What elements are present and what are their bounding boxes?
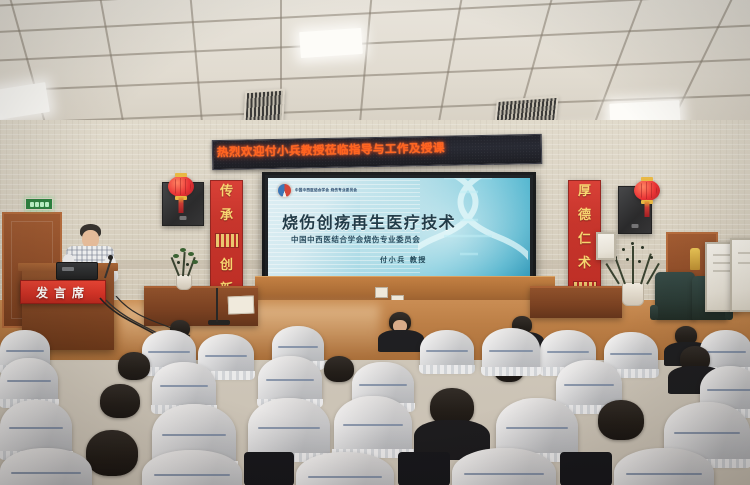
exit-sign-glyph bbox=[35, 202, 39, 207]
chair-seam bbox=[706, 351, 746, 353]
slide-org-logo-text: 中国中西医结合学会 烧伤专业委员会 bbox=[295, 188, 357, 193]
slide-org-logo: 中国中西医结合学会 烧伤专业委员会 bbox=[277, 183, 357, 198]
slide-subtitle: 中国中西医结合学会烧伤专业委员会 bbox=[291, 235, 420, 244]
audience-head bbox=[598, 400, 644, 440]
emergency-exit-sign bbox=[25, 198, 53, 210]
audience-chair[interactable] bbox=[482, 328, 540, 372]
led-banner: 热烈欢迎付小兵教授莅临指导与工作及授课 bbox=[212, 134, 543, 170]
red-lantern-left bbox=[168, 176, 194, 197]
couplet-char: 厚 bbox=[578, 185, 591, 198]
chair-seam bbox=[148, 351, 189, 353]
chair-seam bbox=[359, 384, 406, 386]
chair-seam bbox=[258, 427, 320, 429]
microphone-stand-pole bbox=[216, 288, 218, 322]
ceiling-panel-light bbox=[299, 28, 363, 58]
audience-chair[interactable] bbox=[420, 330, 474, 370]
exit-sign-glyph bbox=[30, 202, 34, 207]
audience-head bbox=[100, 384, 140, 418]
chair-seam bbox=[489, 350, 533, 352]
podium-microphone-head bbox=[108, 255, 113, 260]
chair-shading bbox=[0, 448, 92, 485]
audience-shoulders bbox=[378, 330, 424, 352]
chair-seam bbox=[160, 385, 209, 387]
chair-seam bbox=[547, 351, 590, 353]
chair-seam bbox=[154, 474, 230, 476]
chair-seam bbox=[6, 350, 44, 352]
poster-text-line bbox=[713, 254, 731, 256]
microphone-stand-base bbox=[208, 320, 230, 325]
couplet-ornament bbox=[215, 233, 239, 248]
audience-head bbox=[118, 352, 150, 380]
chair-shadow-gap bbox=[560, 452, 612, 485]
audience-chair[interactable] bbox=[334, 396, 412, 454]
armchair-armrest bbox=[650, 305, 658, 320]
chair-seam bbox=[506, 427, 568, 429]
red-lantern-right bbox=[634, 180, 660, 201]
couplet-char: 仁 bbox=[578, 233, 591, 246]
chair-seam bbox=[308, 476, 383, 478]
podium-laptop[interactable] bbox=[56, 262, 98, 280]
chair-cover-frill bbox=[419, 365, 475, 374]
chair-shadow-gap bbox=[398, 452, 450, 485]
lantern-ribs bbox=[637, 182, 657, 199]
chair-seam bbox=[343, 424, 402, 426]
wall-notice-board bbox=[596, 232, 616, 260]
presentation-slide: 中国中西医结合学会 烧伤专业委员会 烧伤创疡再生医疗技术 中国中西医结合学会烧伤… bbox=[268, 178, 530, 285]
couplet-char: 承 bbox=[220, 209, 233, 222]
chair-seam bbox=[426, 350, 467, 352]
audience-chair[interactable] bbox=[258, 356, 322, 404]
chair-shadow-gap bbox=[244, 452, 294, 485]
lantern-tassel bbox=[645, 201, 650, 217]
conference-hall-photo: 热烈欢迎付小兵教授莅临指导与工作及授课 传 承 创 新 厚 德 仁 术 bbox=[0, 0, 750, 485]
poster-text-line bbox=[738, 252, 750, 254]
poster-text-line bbox=[738, 262, 750, 264]
plant-branches-left bbox=[166, 248, 202, 278]
chair-seam bbox=[266, 379, 315, 381]
audience-chair[interactable] bbox=[248, 398, 330, 458]
chair-seam bbox=[7, 380, 51, 382]
audience-head bbox=[86, 430, 138, 476]
chair-seam bbox=[464, 473, 543, 475]
association-emblem-icon bbox=[277, 183, 292, 198]
framed-poster-2 bbox=[730, 238, 750, 312]
chair-seam bbox=[205, 355, 248, 357]
chair-cover-frill bbox=[481, 367, 541, 376]
award-trophy bbox=[690, 248, 700, 270]
audience-head bbox=[324, 356, 354, 382]
audience-chair[interactable] bbox=[0, 448, 92, 485]
chair-seam bbox=[9, 427, 64, 429]
lantern-cap-top bbox=[175, 173, 187, 177]
chair-seam bbox=[11, 472, 81, 474]
exit-sign-glyph bbox=[45, 202, 49, 207]
stage-armchair-1 bbox=[655, 272, 695, 320]
audience-chair[interactable] bbox=[0, 358, 58, 404]
couplet-char: 德 bbox=[578, 209, 591, 222]
audience-chair[interactable] bbox=[152, 362, 216, 410]
couplet-char: 术 bbox=[578, 257, 591, 270]
exit-sign-glyph bbox=[40, 202, 44, 207]
presenter-notes-card bbox=[228, 296, 255, 315]
projection-screen: 中国中西医结合学会 烧伤专业委员会 烧伤创疡再生医疗技术 中国中西医结合学会烧伤… bbox=[262, 172, 536, 291]
chair-seam bbox=[162, 434, 226, 436]
slide-title: 烧伤创疡再生医疗技术 bbox=[282, 214, 456, 232]
chair-seam bbox=[626, 473, 702, 475]
poster-text-line bbox=[713, 262, 731, 264]
couplet-char: 传 bbox=[220, 185, 233, 198]
slide-presenter-name: 付小兵 教授 bbox=[380, 256, 427, 265]
lantern-ribs bbox=[171, 178, 191, 195]
chair-seam bbox=[610, 353, 651, 355]
wall-socket bbox=[375, 287, 388, 298]
chair-seam bbox=[278, 346, 318, 348]
poster-text-line bbox=[713, 270, 731, 272]
lantern-tassel bbox=[179, 197, 184, 213]
stage-side-cabinet-right bbox=[530, 286, 622, 318]
chair-seam bbox=[674, 432, 739, 434]
couplet-char: 创 bbox=[220, 259, 233, 272]
chair-seam bbox=[564, 384, 614, 386]
lantern-cap-top bbox=[641, 177, 653, 181]
chair-seam bbox=[707, 389, 750, 391]
